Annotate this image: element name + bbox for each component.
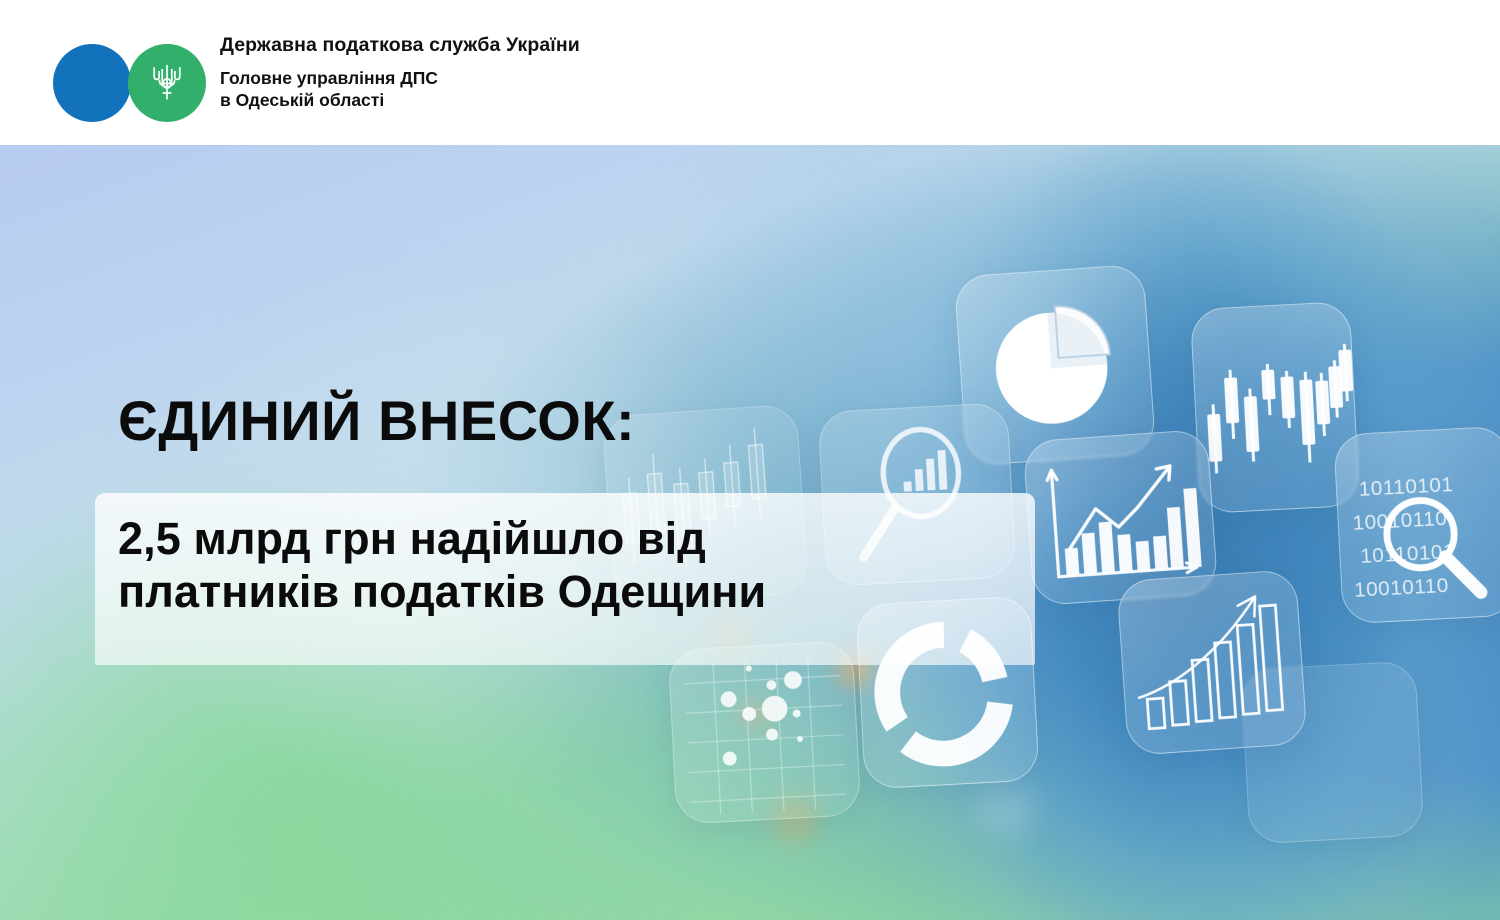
hero-banner: 10110101 10010110 10110101 10010110 <box>0 145 1500 920</box>
glass-card-binary-search: 10110101 10010110 10110101 10010110 <box>1333 426 1500 625</box>
page-title: ЄДИНИЙ ВНЕСОК: <box>118 393 635 449</box>
logo-circle-green-icon <box>128 44 206 122</box>
bubble-scatter-icon <box>669 641 861 823</box>
logo <box>40 18 215 128</box>
department-line-1: Головне управління ДПС <box>220 68 438 88</box>
department-line-2: в Одеській області <box>220 90 384 110</box>
organisation-name: Державна податкова служба України <box>220 33 580 57</box>
trident-icon <box>150 62 184 104</box>
binary-row-1: 10110101 <box>1358 473 1454 501</box>
candlestick-chart-icon <box>1191 302 1359 513</box>
binary-row-4: 10010110 <box>1354 574 1450 602</box>
glass-card-growth-bars <box>1116 569 1308 756</box>
binary-magnifier-icon: 10110101 10010110 10110101 10010110 <box>1334 427 1500 624</box>
department-name: Головне управління ДПС в Одеській област… <box>220 67 580 112</box>
subtitle-line-1: 2,5 млрд грн надійшло від <box>118 513 706 564</box>
header-text-block: Державна податкова служба України Головн… <box>220 33 580 111</box>
logo-circle-blue-icon <box>53 44 131 122</box>
glass-card-bubble-scatter <box>668 640 862 824</box>
page-subtitle: 2,5 млрд грн надійшло від платників пода… <box>118 513 1038 618</box>
site-header: Державна податкова служба України Головн… <box>0 0 1500 145</box>
growth-bars-arrow-icon <box>1117 570 1307 755</box>
subtitle-line-2: платників податків Одещини <box>118 566 1038 619</box>
